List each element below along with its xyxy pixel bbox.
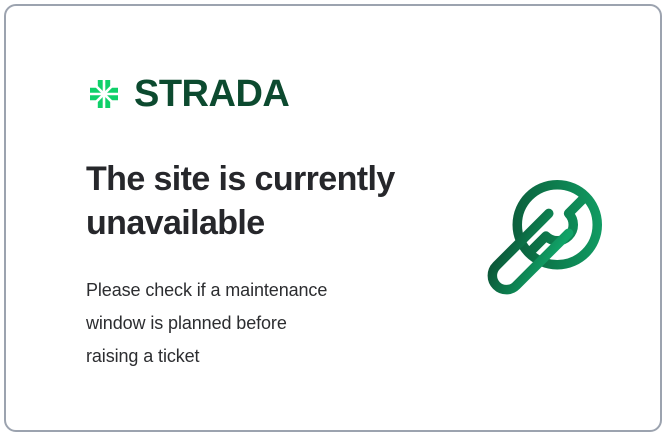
description-line: raising a ticket [86,340,406,373]
error-page: STRADA The site is currently unavailable… [0,0,666,436]
brand-logo: STRADA [84,74,289,114]
strada-asterisk-icon [84,74,124,114]
page-description: Please check if a maintenance window is … [86,274,406,373]
description-line: Please check if a maintenance [86,274,406,307]
page-title: The site is currently unavailable [86,158,426,245]
description-line: window is planned before [86,307,406,340]
wrench-icon [458,158,624,324]
maintenance-card: STRADA The site is currently unavailable… [4,4,662,432]
brand-wordmark: STRADA [134,75,289,113]
